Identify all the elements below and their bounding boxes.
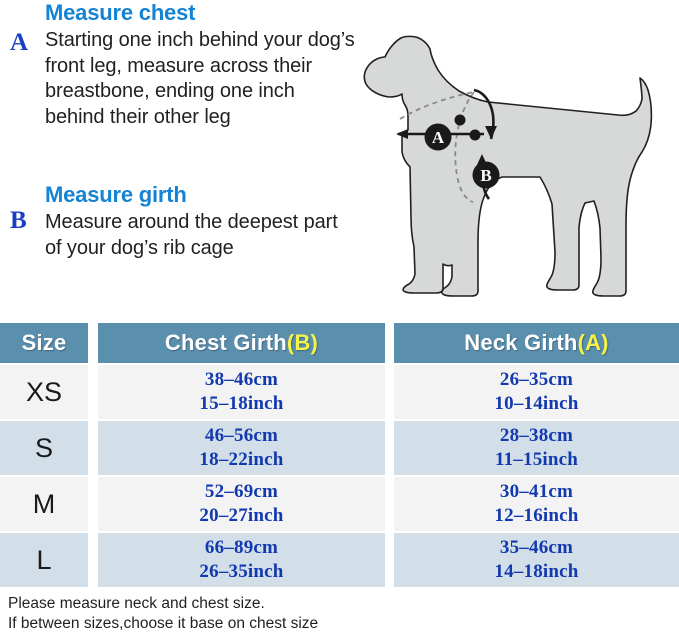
diagram-badge-b: B	[473, 162, 500, 189]
size-chart-page: A Measure chest Starting one inch behind…	[0, 0, 679, 638]
diagram-badge-a: A	[425, 124, 452, 151]
instruction-text-girth: Measure around the deepest part of your …	[45, 210, 357, 261]
neck-cm: 30–41cm	[500, 480, 573, 504]
chest-cm: 66–89cm	[205, 536, 278, 560]
size-label: M	[33, 491, 56, 518]
table-header-neck-marker: (A)	[578, 330, 609, 356]
table-cell-size: S	[0, 421, 88, 475]
size-table: Size Chest Girth (B) Neck Girth (A) XS 3…	[0, 323, 679, 590]
table-cell-neck: 35–46cm 14–18inch	[394, 533, 679, 587]
neck-cm: 28–38cm	[500, 424, 573, 448]
neck-cm: 26–35cm	[500, 368, 573, 392]
neck-inch: 11–15inch	[495, 448, 578, 472]
chest-cm: 52–69cm	[205, 480, 278, 504]
table-header-row: Size Chest Girth (B) Neck Girth (A)	[0, 323, 679, 363]
table-cell-neck: 30–41cm 12–16inch	[394, 477, 679, 531]
table-header-neck-label: Neck Girth	[464, 330, 577, 356]
instruction-text-chest: Starting one inch behind your dog’s fron…	[45, 28, 357, 130]
table-cell-chest: 38–46cm 15–18inch	[98, 365, 385, 419]
neck-inch: 10–14inch	[494, 392, 578, 416]
size-label: L	[36, 547, 51, 574]
table-cell-chest: 46–56cm 18–22inch	[98, 421, 385, 475]
dog-measurement-diagram: A B	[358, 2, 679, 312]
chest-inch: 26–35inch	[199, 560, 283, 584]
table-cell-size: L	[0, 533, 88, 587]
footer-line-1: Please measure neck and chest size.	[8, 594, 568, 614]
chest-cm: 46–56cm	[205, 424, 278, 448]
table-cell-neck: 28–38cm 11–15inch	[394, 421, 679, 475]
table-cell-size: M	[0, 477, 88, 531]
neck-inch: 14–18inch	[494, 560, 578, 584]
instruction-block-chest: A Measure chest Starting one inch behind…	[0, 0, 360, 130]
table-header-size: Size	[0, 323, 88, 363]
footer-note: Please measure neck and chest size. If b…	[8, 594, 568, 633]
instruction-heading-chest: Measure chest	[45, 0, 360, 26]
instruction-marker-a: A	[10, 30, 28, 55]
table-row: M 52–69cm 20–27inch 30–41cm 12–16inch	[0, 477, 679, 531]
table-header-chest-label: Chest Girth	[165, 330, 287, 356]
table-cell-chest: 52–69cm 20–27inch	[98, 477, 385, 531]
table-row: L 66–89cm 26–35inch 35–46cm 14–18inch	[0, 533, 679, 587]
dog-silhouette-shape	[364, 36, 651, 296]
table-header-neck-girth: Neck Girth (A)	[394, 323, 679, 363]
size-label: XS	[26, 379, 62, 406]
instruction-marker-b: B	[10, 208, 27, 233]
diagram-badge-b-label: B	[480, 166, 491, 185]
instruction-block-girth: Measure girth B Measure around the deepe…	[0, 182, 360, 261]
table-row: XS 38–46cm 15–18inch 26–35cm 10–14inch	[0, 365, 679, 419]
neck-cm: 35–46cm	[500, 536, 573, 560]
table-header-chest-girth: Chest Girth (B)	[98, 323, 385, 363]
chest-cm: 38–46cm	[205, 368, 278, 392]
chest-inch: 20–27inch	[199, 504, 283, 528]
chest-endpoint-dot-lower	[470, 130, 481, 141]
table-header-chest-marker: (B)	[287, 330, 318, 356]
instruction-heading-girth: Measure girth	[45, 182, 360, 208]
diagram-badge-a-label: A	[432, 128, 445, 147]
chest-inch: 18–22inch	[199, 448, 283, 472]
footer-line-2: If between sizes,choose it base on chest…	[8, 614, 568, 634]
chest-inch: 15–18inch	[199, 392, 283, 416]
table-cell-neck: 26–35cm 10–14inch	[394, 365, 679, 419]
table-row: S 46–56cm 18–22inch 28–38cm 11–15inch	[0, 421, 679, 475]
table-cell-chest: 66–89cm 26–35inch	[98, 533, 385, 587]
size-label: S	[35, 435, 53, 462]
table-cell-size: XS	[0, 365, 88, 419]
neck-inch: 12–16inch	[494, 504, 578, 528]
instructions-panel: A Measure chest Starting one inch behind…	[0, 0, 360, 310]
chest-endpoint-dot-upper	[455, 115, 466, 126]
